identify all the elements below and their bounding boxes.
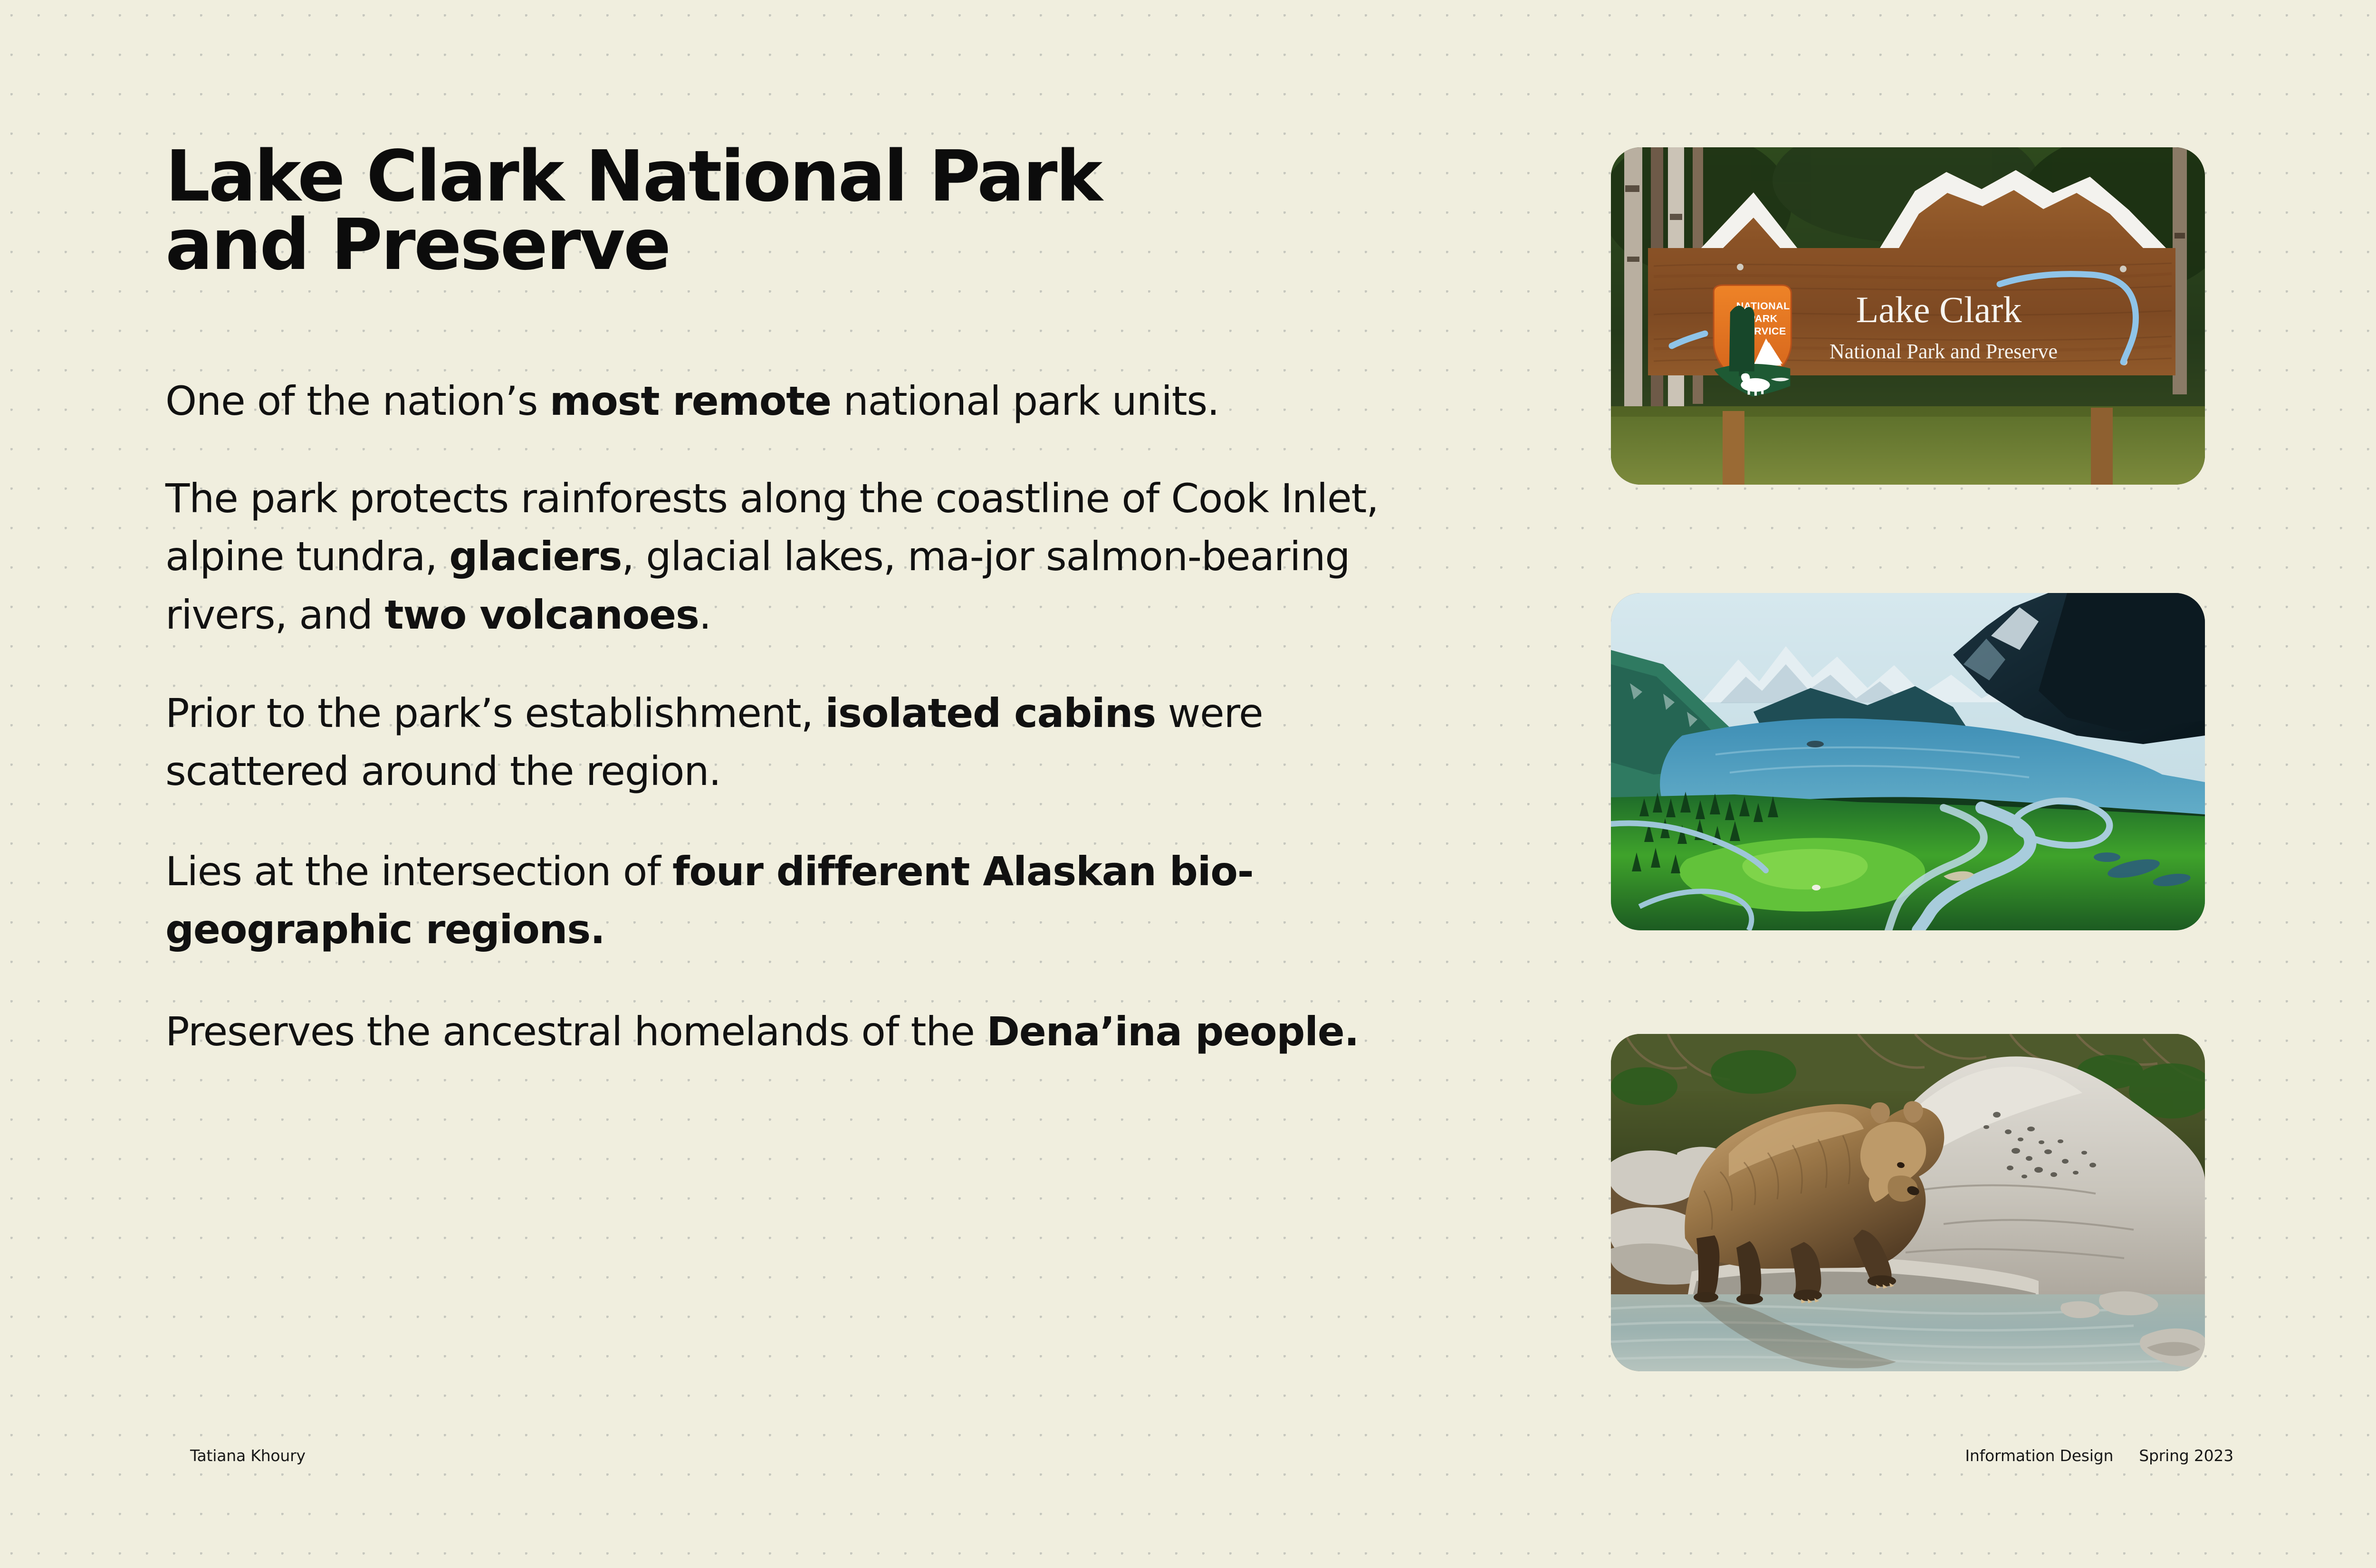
sign-park-name: Lake Clark — [1856, 289, 2022, 330]
emphasis-run: Dena’ina people. — [987, 1008, 1359, 1055]
text-run: Lies at the intersection of — [165, 848, 672, 895]
text-run: . — [699, 592, 711, 638]
valley-illustration — [1611, 593, 2205, 930]
emphasis-run: two volcanoes — [384, 592, 699, 638]
brown-bear-photo — [1611, 1034, 2205, 1371]
bear-illustration — [1611, 1034, 2205, 1371]
emphasis-run: glaciers — [449, 533, 622, 580]
paragraph-denaina: Preserves the ancestral homelands of the… — [165, 1003, 1458, 1061]
paragraph-remote: One of the nation’s most remote national… — [165, 372, 1458, 430]
valley-river-aerial-photo — [1611, 593, 2205, 930]
paragraph-cabins: Prior to the park’s establishment, isola… — [165, 684, 1458, 801]
sign-park-subtitle: National Park and Preserve — [1830, 340, 2058, 363]
emphasis-run: most remote — [550, 378, 831, 424]
page-title: Lake Clark National Park and Preserve — [165, 143, 1458, 279]
park-sign-illustration: NATIONAL PARK SERVICE — [1611, 147, 2205, 485]
paragraph-protects: The park protects rainforests along the … — [165, 469, 1458, 644]
text-run: national park units. — [831, 378, 1219, 424]
slide-canvas: Lake Clark National Park and Preserve On… — [0, 0, 2376, 1568]
footer-course-info: Information Design Spring 2023 — [1965, 1446, 2233, 1465]
paragraph-bioregions: Lies at the intersection of four differe… — [165, 842, 1458, 959]
text-column: Lake Clark National Park and Preserve On… — [165, 143, 1458, 1061]
text-run: One of the nation’s — [165, 378, 550, 424]
footer-term: Spring 2023 — [2139, 1446, 2233, 1465]
footer-course: Information Design — [1965, 1446, 2113, 1465]
emphasis-run: isolated cabins — [825, 690, 1156, 736]
text-run: Preserves the ancestral homelands of the — [165, 1008, 987, 1055]
park-entrance-sign-photo: NATIONAL PARK SERVICE — [1611, 147, 2205, 485]
footer-author: Tatiana Khoury — [190, 1446, 306, 1465]
text-run: Prior to the park’s establishment, — [165, 690, 825, 736]
